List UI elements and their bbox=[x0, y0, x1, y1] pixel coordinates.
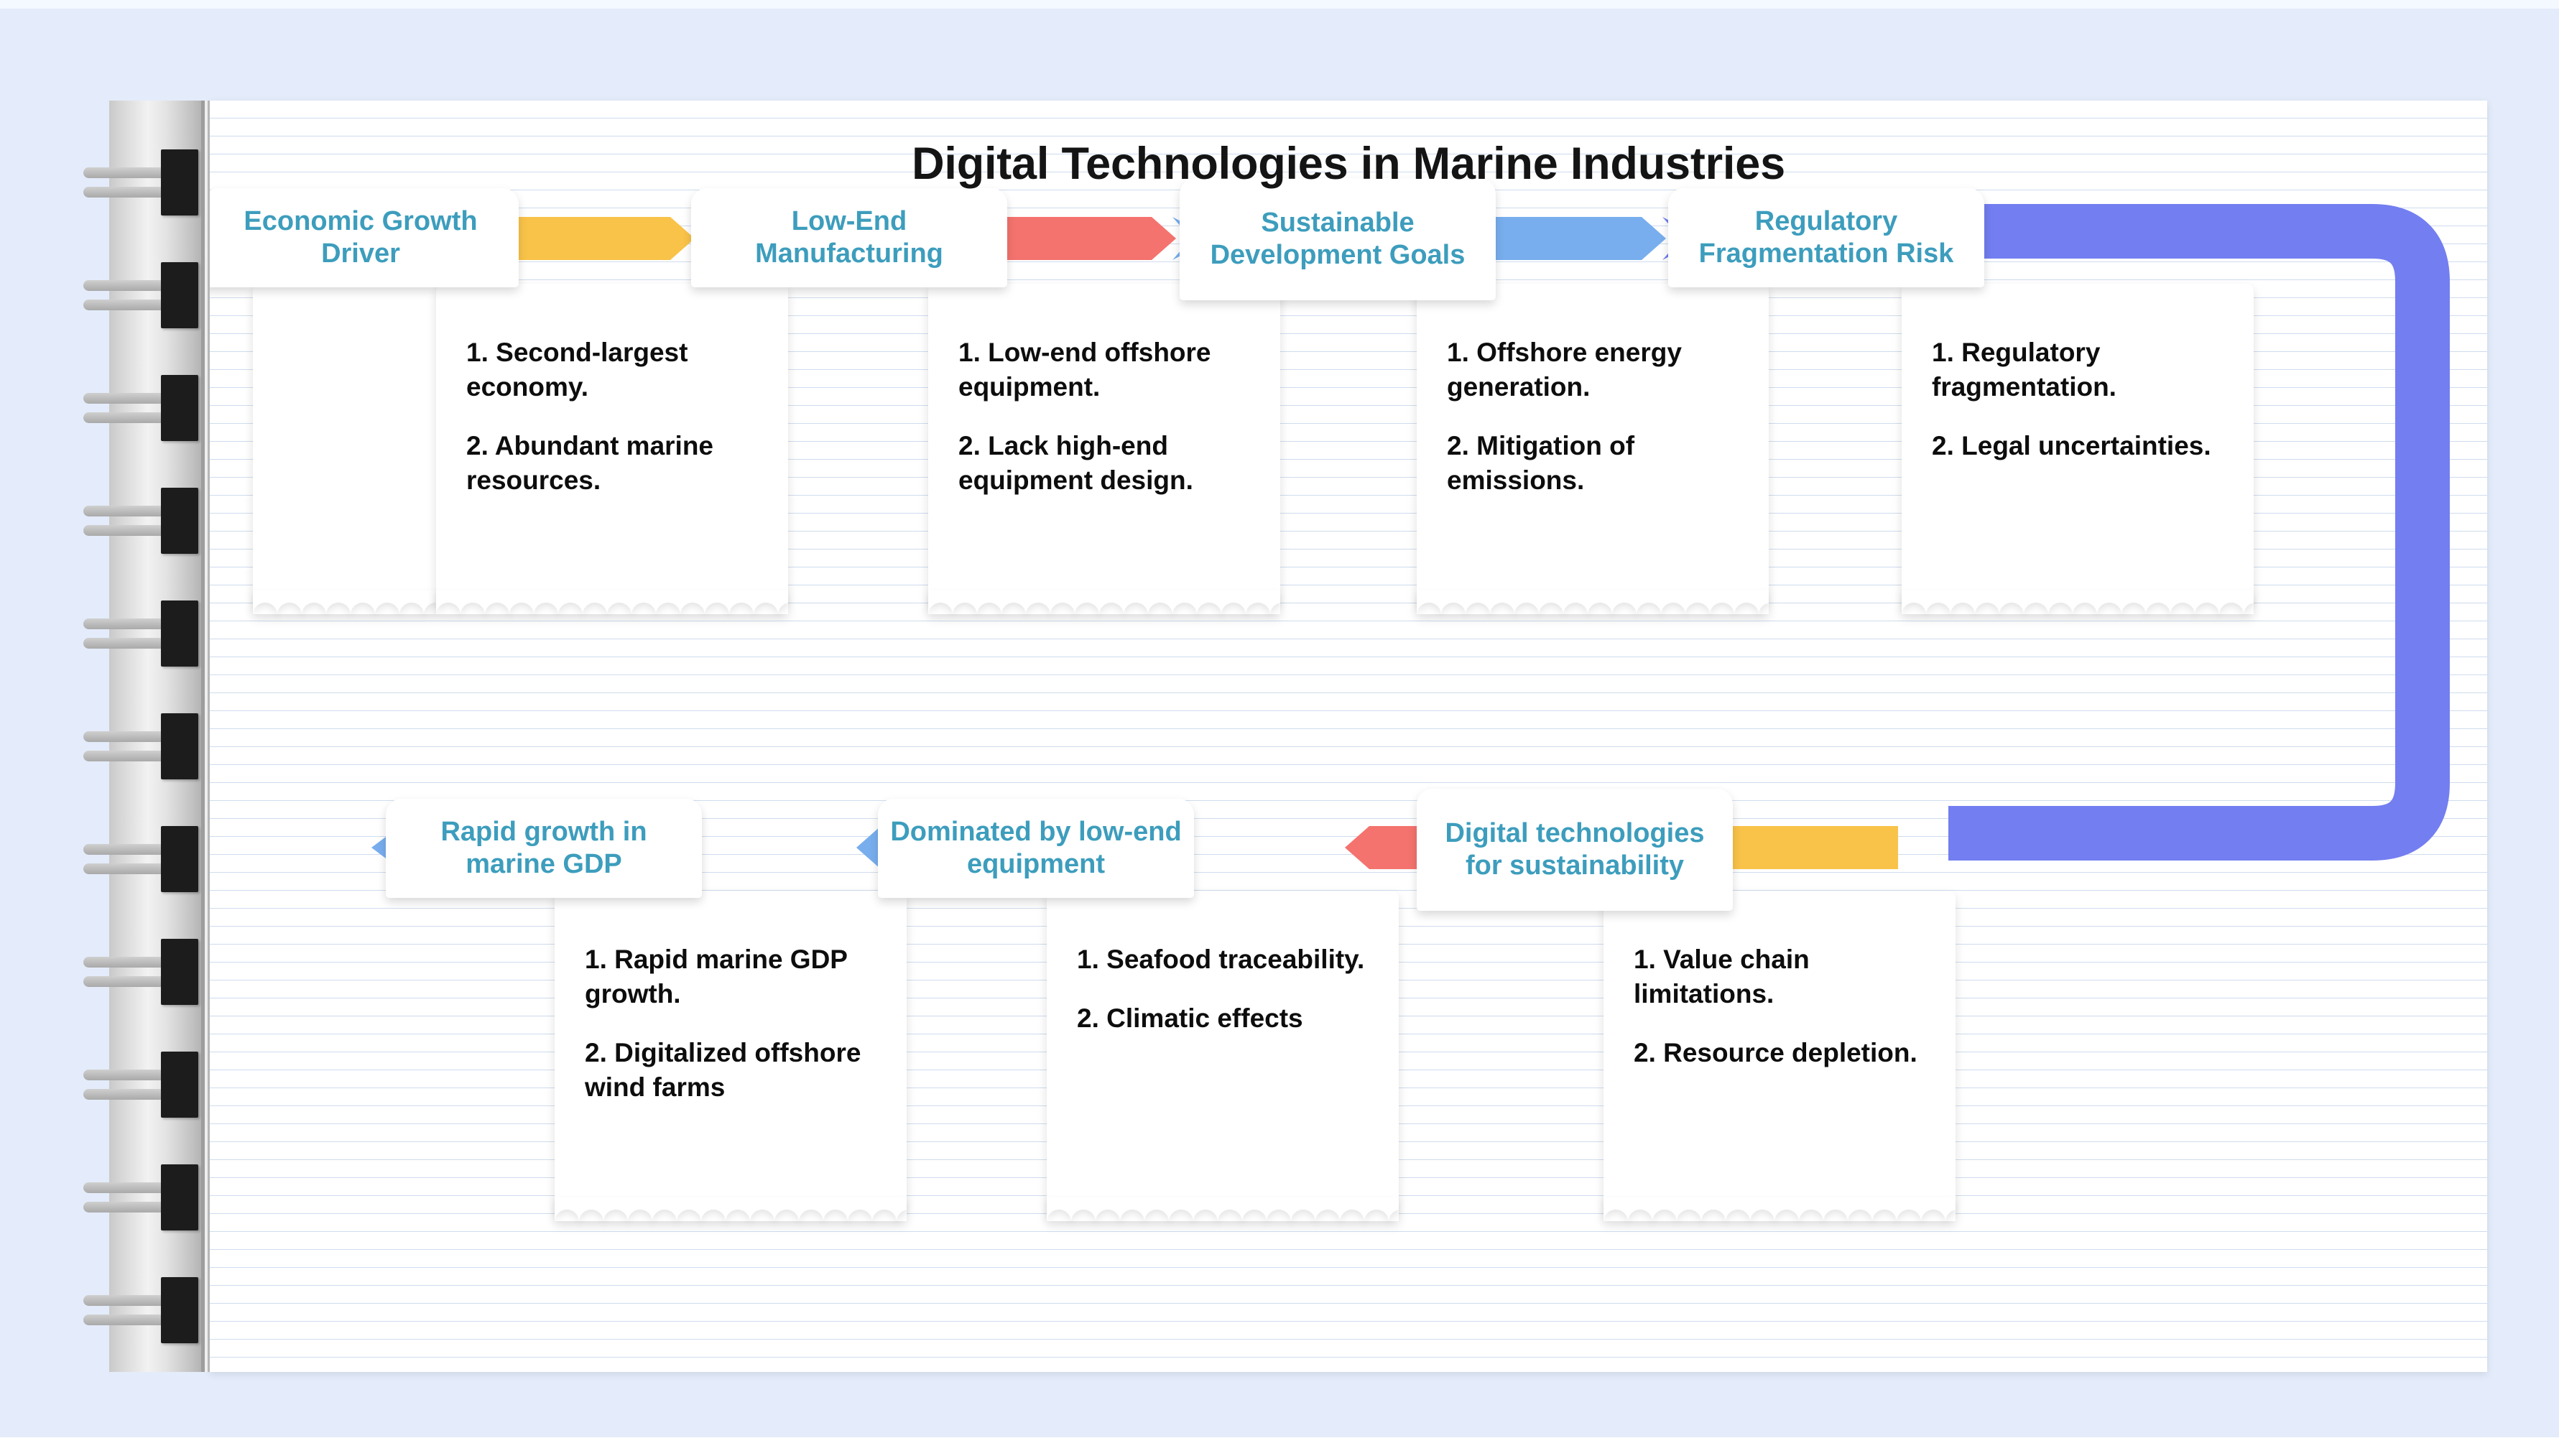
card-header-label: Economic Growth Driver bbox=[213, 205, 509, 270]
card-header[interactable]: Rapid growth in marine GDP bbox=[386, 799, 702, 898]
body-card-text: 1. Rapid marine GDP growth.2. Digitalize… bbox=[585, 942, 891, 1105]
wrap-around-connector bbox=[1920, 201, 2487, 919]
scalloped-edge bbox=[1417, 590, 1769, 615]
scalloped-edge bbox=[555, 1197, 907, 1222]
scalloped-edge bbox=[1604, 1197, 1956, 1222]
scalloped-edge bbox=[436, 590, 788, 615]
card-header-label: Sustainable Development Goals bbox=[1190, 207, 1486, 272]
body-card-text: 1. Value chain limitations.2. Resource d… bbox=[1634, 942, 1940, 1070]
card-header-label: Rapid growth in marine GDP bbox=[396, 816, 692, 881]
top-strip bbox=[0, 0, 2559, 9]
body-card[interactable]: 1. Second-largest economy.2. Abundant ma… bbox=[436, 284, 788, 614]
body-card[interactable] bbox=[253, 284, 436, 614]
spine-edge bbox=[208, 101, 210, 1372]
body-card-text: 1. Seafood traceability.2. Climatic effe… bbox=[1077, 942, 1383, 1036]
notebook: Digital Technologies in Marine Industrie… bbox=[109, 101, 2487, 1372]
body-card[interactable]: 1. Rapid marine GDP growth.2. Digitalize… bbox=[555, 891, 907, 1221]
body-card-text: 1. Second-largest economy.2. Abundant ma… bbox=[466, 335, 772, 498]
card-header[interactable]: Sustainable Development Goals bbox=[1180, 178, 1496, 300]
card-header[interactable]: Dominated by low-end equipment bbox=[878, 799, 1194, 898]
card-header[interactable]: Economic Growth Driver bbox=[210, 188, 519, 287]
card-header-label: Low-End Manufacturing bbox=[701, 205, 997, 270]
card-header-label: Regulatory Fragmentation Risk bbox=[1678, 205, 1974, 270]
scalloped-edge bbox=[253, 590, 436, 615]
flow-arrow bbox=[1483, 217, 1666, 260]
body-card[interactable]: 1. Value chain limitations.2. Resource d… bbox=[1604, 891, 1956, 1221]
bottom-strip bbox=[0, 1437, 2559, 1456]
page-title: Digital Technologies in Marine Industrie… bbox=[210, 138, 2487, 190]
body-card-text: 1. Low-end offshore equipment.2. Lack hi… bbox=[958, 335, 1264, 498]
flow-arrow bbox=[993, 217, 1176, 260]
body-card-text: 1. Offshore energy generation.2. Mitigat… bbox=[1447, 335, 1753, 498]
body-card[interactable]: 1. Offshore energy generation.2. Mitigat… bbox=[1417, 284, 1769, 614]
body-card[interactable]: 1. Low-end offshore equipment.2. Lack hi… bbox=[928, 284, 1280, 614]
scalloped-edge bbox=[928, 590, 1280, 615]
notebook-paper: Digital Technologies in Marine Industrie… bbox=[210, 101, 2487, 1372]
card-header-label: Dominated by low-end equipment bbox=[888, 816, 1184, 881]
card-header[interactable]: Digital technologies for sustainability bbox=[1417, 789, 1733, 911]
card-header[interactable]: Regulatory Fragmentation Risk bbox=[1668, 188, 1984, 287]
card-header-label: Digital technologies for sustainability bbox=[1427, 817, 1723, 882]
flow-arrow bbox=[512, 217, 695, 260]
scalloped-edge bbox=[1047, 1197, 1399, 1222]
process-flow-diagram: 1. Second-largest economy.2. Abundant ma… bbox=[210, 101, 2487, 1372]
body-card[interactable]: 1. Seafood traceability.2. Climatic effe… bbox=[1047, 891, 1399, 1221]
card-header[interactable]: Low-End Manufacturing bbox=[691, 188, 1007, 287]
